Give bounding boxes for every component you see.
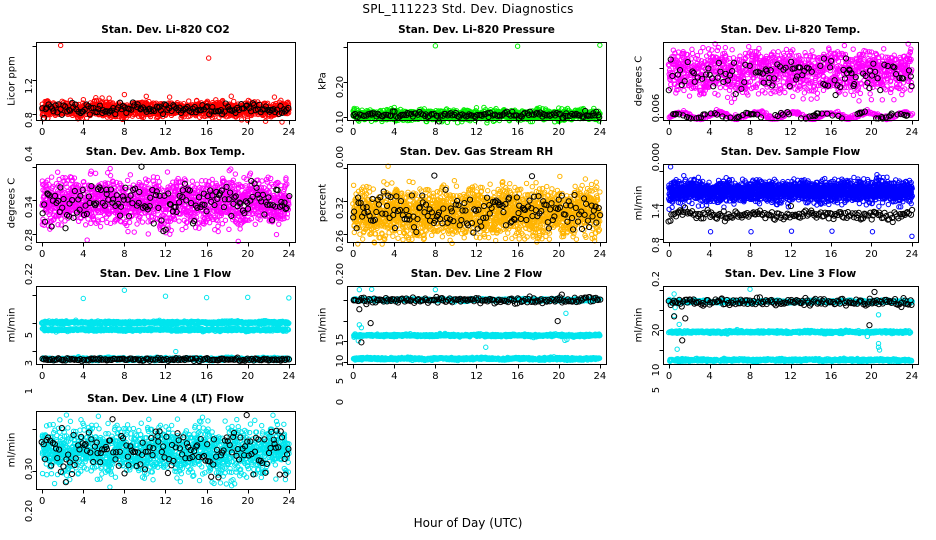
x-tick-label: 4 — [696, 371, 724, 382]
plot-area-li820-co2 — [2, 24, 301, 144]
y-tick-label: 0.10 — [334, 102, 348, 142]
y-tick-label: 20 — [650, 310, 664, 350]
x-tick-label: 16 — [817, 371, 845, 382]
y-tick-label: 1.4 — [650, 191, 664, 231]
x-tick-label: 20 — [234, 496, 262, 507]
x-tick-label: 4 — [696, 127, 724, 138]
plot-area-line1-flow — [2, 268, 301, 388]
x-tick-label: 24 — [275, 371, 303, 382]
x-tick-label: 20 — [857, 371, 885, 382]
x-tick-label: 16 — [817, 127, 845, 138]
x-tick-label: 16 — [504, 371, 532, 382]
x-tick-label: 20 — [545, 127, 573, 138]
x-tick-label: 4 — [69, 496, 97, 507]
plot-area-amb-box-temp — [2, 146, 301, 266]
x-tick-label: 4 — [380, 371, 408, 382]
plot-area-li820-temp — [629, 24, 924, 144]
plot-area-li820-pressure — [313, 24, 612, 144]
plot-area-line4-lt-flow — [2, 393, 301, 513]
y-axis-label-li820-temp: degrees C — [634, 56, 645, 106]
x-tick-label: 8 — [110, 127, 138, 138]
x-tick-label: 8 — [110, 496, 138, 507]
panel-line1-flow: Stan. Dev. Line 1 Flow04812162024135ml/m… — [2, 268, 301, 388]
x-tick-label: 4 — [69, 127, 97, 138]
x-tick-label: 12 — [152, 249, 180, 260]
y-axis-label-gas-stream-rh: percent — [318, 184, 329, 222]
x-tick-label: 16 — [504, 249, 532, 260]
y-axis-label-line1-flow: ml/min — [7, 308, 18, 343]
y-axis-label-li820-co2: Licor ppm — [7, 56, 18, 106]
panel-li820-co2: Stan. Dev. Li-820 CO2048121620240.40.81.… — [2, 24, 301, 144]
x-tick-label: 8 — [110, 249, 138, 260]
panel-line3-flow: Stan. Dev. Line 3 Flow0481216202451020ml… — [629, 268, 924, 388]
x-tick-label: 12 — [777, 127, 805, 138]
panel-li820-temp: Stan. Dev. Li-820 Temp.048121620240.0000… — [629, 24, 924, 144]
x-tick-label: 4 — [696, 249, 724, 260]
y-tick-label: 0.34 — [23, 187, 37, 227]
x-tick-label: 12 — [777, 371, 805, 382]
x-tick-label: 4 — [69, 371, 97, 382]
panel-line2-flow: Stan. Dev. Line 2 Flow04812162024051015m… — [313, 268, 612, 388]
x-tick-label: 12 — [152, 371, 180, 382]
x-tick-label: 4 — [380, 127, 408, 138]
y-tick-label: 10 — [650, 350, 664, 390]
x-tick-label: 24 — [898, 371, 926, 382]
x-tick-label: 12 — [463, 127, 491, 138]
x-tick-label: 16 — [193, 127, 221, 138]
y-tick-label: 0.20 — [334, 67, 348, 107]
y-axis-label-li820-pressure: kPa — [318, 72, 329, 90]
x-tick-label: 16 — [193, 371, 221, 382]
y-tick-label: 1.2 — [23, 66, 37, 106]
x-tick-label: 24 — [275, 249, 303, 260]
x-tick-label: 12 — [463, 371, 491, 382]
x-tick-label: 20 — [857, 127, 885, 138]
x-tick-label: 24 — [586, 249, 614, 260]
panel-amb-box-temp: Stan. Dev. Amb. Box Temp.048121620240.22… — [2, 146, 301, 266]
x-tick-label: 4 — [69, 249, 97, 260]
x-tick-label: 20 — [857, 249, 885, 260]
x-tick-label: 16 — [193, 496, 221, 507]
panel-line4-lt-flow: Stan. Dev. Line 4 (LT) Flow048121620240.… — [2, 393, 301, 513]
x-tick-label: 24 — [898, 127, 926, 138]
x-tick-label: 8 — [421, 249, 449, 260]
y-axis-label-line2-flow: ml/min — [318, 308, 329, 343]
plot-area-gas-stream-rh — [313, 146, 612, 266]
y-axis-label-amb-box-temp: degrees C — [7, 178, 18, 228]
x-tick-label: 20 — [545, 371, 573, 382]
x-tick-label: 24 — [586, 127, 614, 138]
x-tick-label: 24 — [898, 249, 926, 260]
x-tick-label: 16 — [504, 127, 532, 138]
y-tick-label: 0.8 — [23, 100, 37, 140]
x-tick-label: 20 — [234, 127, 262, 138]
plot-area-sample-flow — [629, 146, 924, 266]
x-tick-label: 8 — [736, 371, 764, 382]
panel-gas-stream-rh: Stan. Dev. Gas Stream RH048121620240.200… — [313, 146, 612, 266]
x-tick-label: 8 — [736, 249, 764, 260]
x-tick-label: 12 — [152, 496, 180, 507]
x-tick-label: 8 — [110, 371, 138, 382]
y-tick-label: 0.006 — [650, 88, 664, 128]
x-tick-label: 24 — [275, 496, 303, 507]
panel-li820-pressure: Stan. Dev. Li-820 Pressure048121620240.0… — [313, 24, 612, 144]
x-tick-label: 20 — [234, 371, 262, 382]
x-tick-label: 8 — [736, 127, 764, 138]
x-tick-label: 16 — [817, 249, 845, 260]
x-tick-label: 24 — [586, 371, 614, 382]
figure-root: SPL_111223 Std. Dev. Diagnostics Stan. D… — [0, 0, 936, 540]
panel-sample-flow: Stan. Dev. Sample Flow048121620240.20.81… — [629, 146, 924, 266]
x-tick-label: 12 — [777, 249, 805, 260]
x-tick-label: 16 — [193, 249, 221, 260]
x-tick-label: 20 — [545, 249, 573, 260]
y-axis-label-line3-flow: ml/min — [634, 308, 645, 343]
y-axis-label-sample-flow: ml/min — [634, 186, 645, 221]
y-tick-label: 5 — [23, 315, 37, 355]
x-tick-label: 12 — [463, 249, 491, 260]
x-tick-label: 8 — [421, 127, 449, 138]
x-tick-label: 8 — [421, 371, 449, 382]
x-tick-label: 20 — [234, 249, 262, 260]
y-tick-label: 0.30 — [23, 449, 37, 489]
x-tick-label: 4 — [380, 249, 408, 260]
plot-area-line3-flow — [629, 268, 924, 388]
plot-area-line2-flow — [313, 268, 612, 388]
figure-x-axis-label: Hour of Day (UTC) — [0, 516, 936, 530]
x-tick-label: 24 — [275, 127, 303, 138]
y-tick-label: 15 — [334, 320, 348, 360]
y-axis-label-line4-lt-flow: ml/min — [7, 433, 18, 468]
figure-title: SPL_111223 Std. Dev. Diagnostics — [0, 2, 936, 16]
x-tick-label: 12 — [152, 127, 180, 138]
y-tick-label: 0.32 — [334, 188, 348, 228]
